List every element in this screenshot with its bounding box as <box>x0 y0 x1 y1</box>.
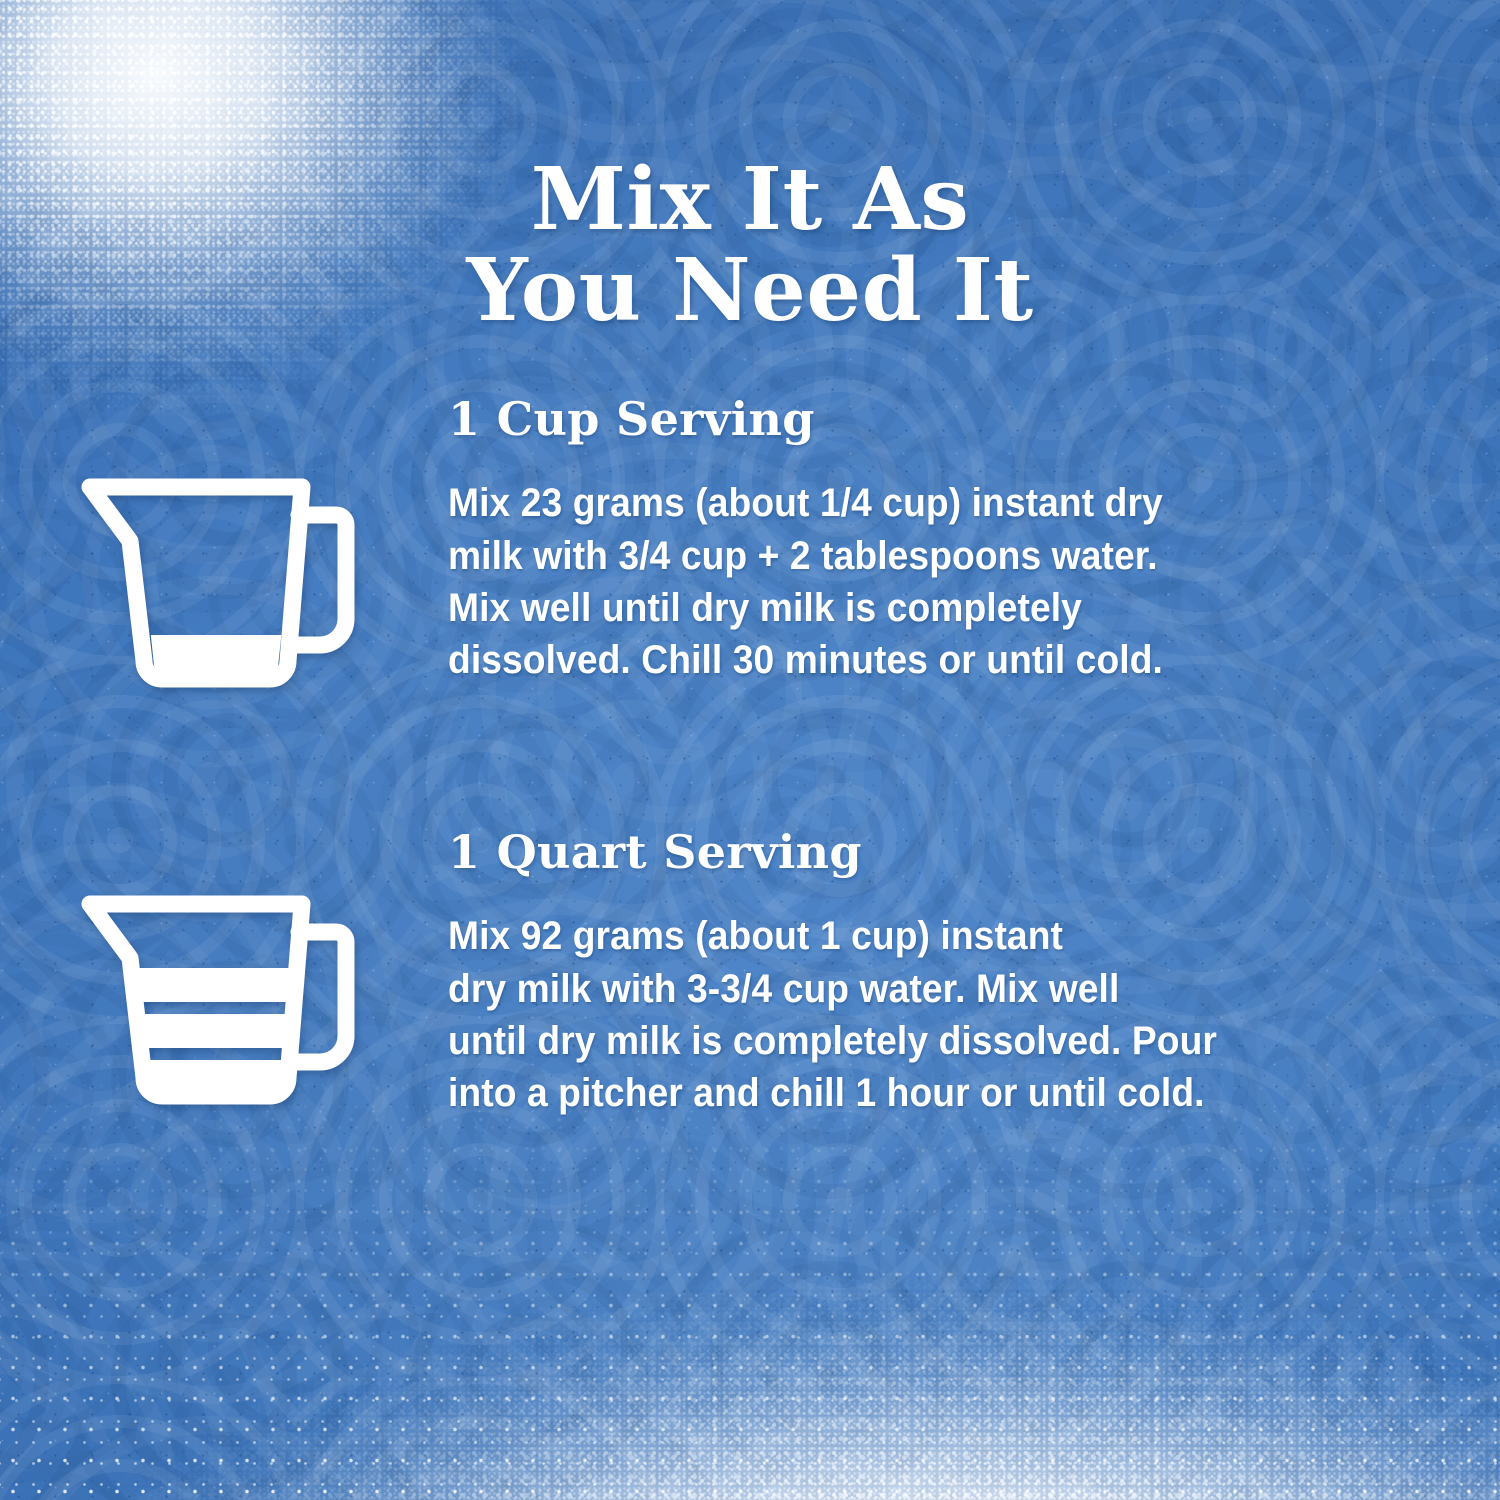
measuring-cup-one-cup-icon <box>84 473 374 691</box>
body-line: Mix 92 grams (about 1 cup) instant <box>448 910 1315 962</box>
section-body-one-cup: Mix 23 grams (about 1/4 cup) instant dry… <box>448 477 1315 687</box>
body-line: milk with 3/4 cup + 2 tablespoons water. <box>448 530 1315 582</box>
poster-headline: Mix It As You Need It <box>0 154 1500 336</box>
measuring-cup-one-quart-icon <box>84 890 374 1108</box>
body-line: dry milk with 3-3/4 cup water. Mix well <box>448 963 1315 1015</box>
serving-text-one-quart: 1 Quart Serving Mix 92 grams (about 1 cu… <box>448 828 1380 1120</box>
body-line: until dry milk is completely dissolved. … <box>448 1015 1315 1067</box>
body-line: dissolved. Chill 30 minutes or until col… <box>448 634 1315 686</box>
section-body-one-quart: Mix 92 grams (about 1 cup) instant dry m… <box>448 910 1315 1120</box>
serving-text-one-cup: 1 Cup Serving Mix 23 grams (about 1/4 cu… <box>448 395 1380 687</box>
poster-content: Mix It As You Need It 1 Cup Serving Mix … <box>0 0 1500 1500</box>
body-line: Mix 23 grams (about 1/4 cup) instant dry <box>448 477 1315 529</box>
body-line: Mix well until dry milk is completely <box>448 582 1315 634</box>
instructions-poster: Mix It As You Need It 1 Cup Serving Mix … <box>0 0 1500 1500</box>
section-title-one-quart: 1 Quart Serving <box>448 828 1380 876</box>
body-line: into a pitcher and chill 1 hour or until… <box>448 1067 1315 1119</box>
headline-line-1: Mix It As <box>531 149 970 250</box>
section-title-one-cup: 1 Cup Serving <box>448 395 1380 443</box>
headline-line-2: You Need It <box>0 245 1500 336</box>
